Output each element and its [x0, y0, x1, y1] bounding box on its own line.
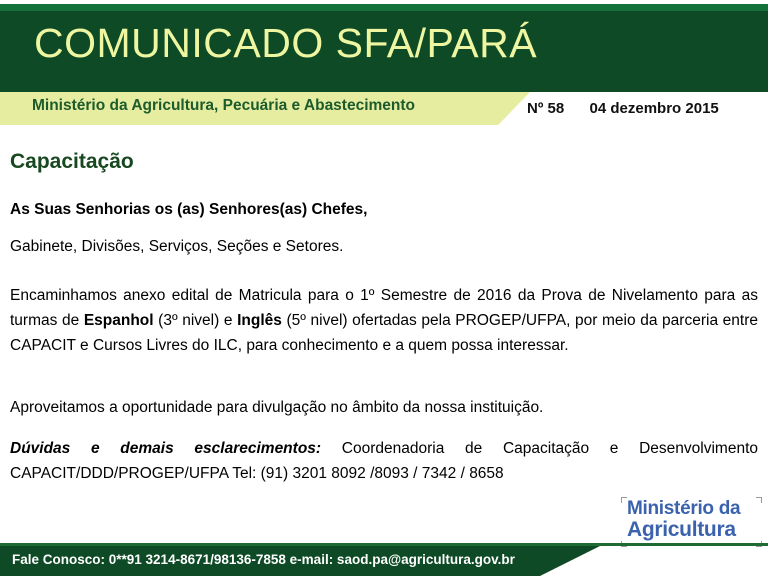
language-english: Inglês [237, 312, 282, 329]
ministry-agriculture-logo[interactable]: Ministério da Agricultura [627, 498, 759, 540]
logo-line-2: Agricultura [627, 519, 759, 540]
addressee-subline: Gabinete, Divisões, Serviços, Seções e S… [10, 238, 343, 256]
ministry-subtitle-text: Ministério da Agricultura, Pecuária e Ab… [32, 97, 415, 115]
paragraph-main-part2: (3º nivel) e [154, 312, 238, 329]
footer-rule [0, 543, 768, 546]
paragraph-second: Aproveitamos a oportunidade para divulga… [10, 395, 758, 420]
issue-info: Nº 58 04 dezembro 2015 [527, 100, 719, 117]
paragraph-contact: Dúvidas e demais esclarecimentos: Coorde… [10, 436, 758, 486]
section-title: Capacitação [10, 150, 134, 174]
page-title: COMUNICADO SFA/PARÁ [34, 20, 537, 66]
logo-line-1: Ministério da [627, 498, 759, 519]
paragraph-main: Encaminhamos anexo edital de Matricula p… [10, 283, 758, 358]
issue-number: Nº 58 [527, 100, 564, 117]
contact-lead: Dúvidas e demais esclarecimentos: [10, 440, 321, 457]
language-spanish: Espanhol [84, 312, 154, 329]
footer-contact-text: Fale Conosco: 0**91 3214-8671/98136-7858… [12, 552, 515, 567]
addressee-line: As Suas Senhorias os (as) Senhores(as) C… [10, 201, 367, 219]
header-top-highlight [0, 4, 768, 11]
issue-date: 04 dezembro 2015 [590, 100, 719, 117]
